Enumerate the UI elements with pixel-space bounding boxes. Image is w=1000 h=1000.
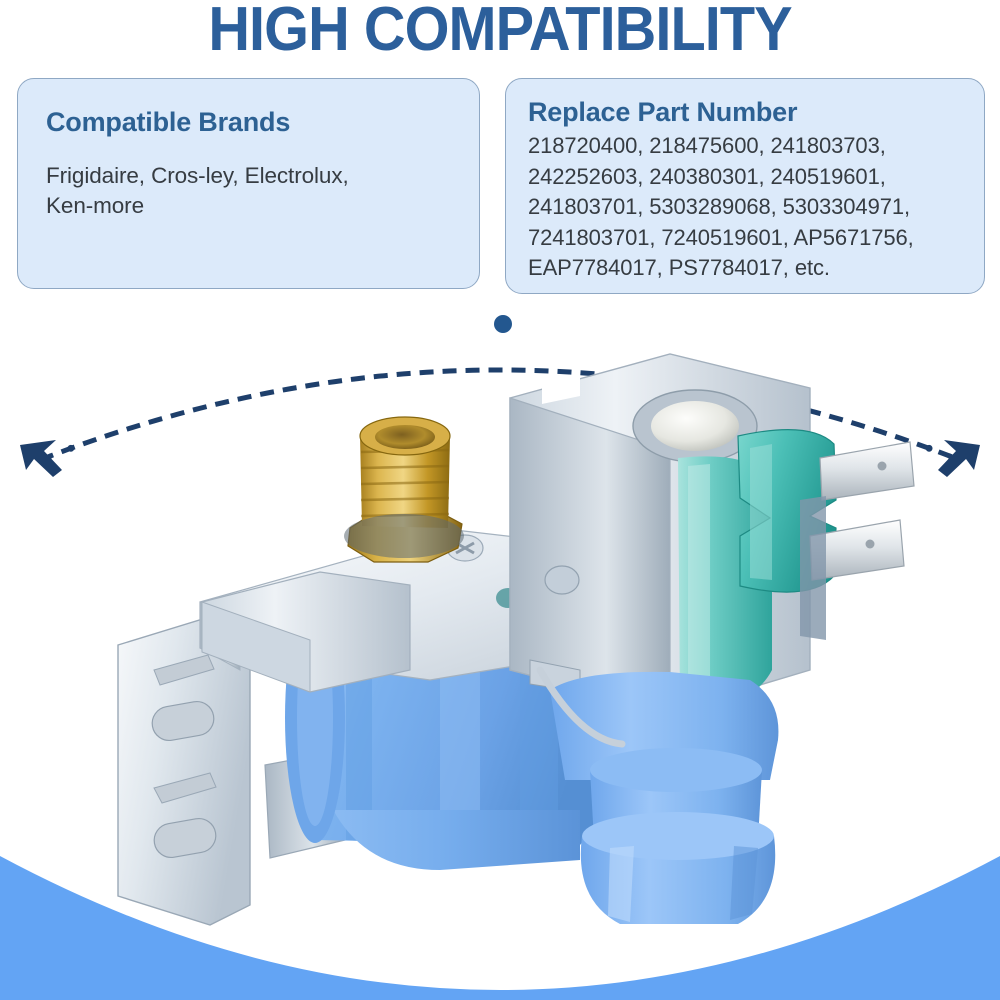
terminal-backing-tab [800, 496, 826, 640]
infographic-page: HIGH COMPATIBILITY Compatible Brands Fri… [0, 0, 1000, 1000]
part-number-line: 241803701, 5303289068, 5303304971, [528, 192, 970, 223]
arc-dot [67, 445, 74, 452]
arc-center-dot [494, 315, 512, 333]
compatible-brands-body: Frigidaire, Cros-ley, Electrolux, Ken-mo… [46, 161, 453, 221]
replace-part-number-title: Replace Part Number [528, 95, 970, 129]
compatible-brands-title: Compatible Brands [46, 105, 453, 139]
brass-inlet-fitting [344, 417, 464, 562]
part-number-line: 7241803701, 7240519601, AP5671756, [528, 223, 970, 254]
arc-dot [48, 453, 53, 458]
compatible-brands-line: Ken-more [46, 191, 453, 221]
arrow-left-icon [20, 440, 62, 477]
part-number-line: EAP7784017, PS7784017, etc. [528, 253, 970, 284]
coil-side-hole [545, 566, 579, 594]
part-number-line: 242252603, 240380301, 240519601, [528, 162, 970, 193]
replace-part-number-panel: Replace Part Number 218720400, 218475600… [505, 78, 985, 294]
brass-washer [344, 514, 464, 558]
terminal-block-highlight [750, 444, 772, 580]
bottom-wave-shape [0, 856, 1000, 1000]
outlet-ring-upper [590, 748, 762, 792]
part-number-line: 218720400, 218475600, 241803703, [528, 131, 970, 162]
page-title: HIGH COMPATIBILITY [35, 0, 965, 62]
coil-bobbin-highlight [688, 464, 710, 700]
brass-bore [375, 425, 435, 449]
replace-part-number-body: 218720400, 218475600, 241803703, 2422526… [528, 131, 970, 284]
bottom-wave-decoration [0, 800, 1000, 1000]
compatible-brands-line: Frigidaire, Cros-ley, Electrolux, [46, 161, 453, 191]
compatible-brands-panel: Compatible Brands Frigidaire, Cros-ley, … [17, 78, 480, 289]
coil-core-hole [651, 401, 739, 451]
